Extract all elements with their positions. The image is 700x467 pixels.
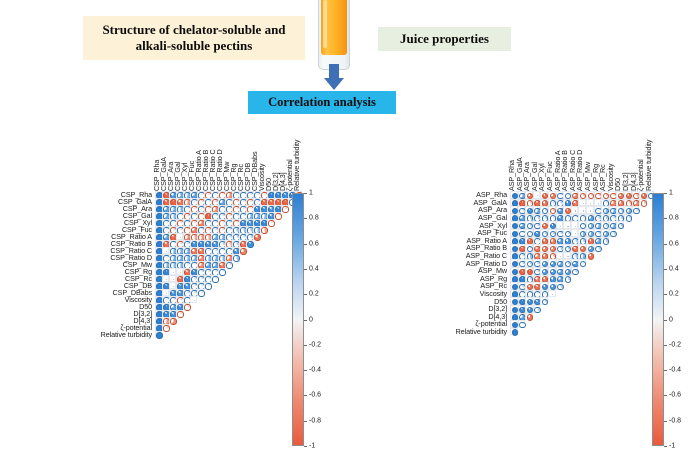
legend-tick [664,269,667,270]
correlation-cell [563,199,571,207]
correlation-cell [556,282,564,290]
correlation-cell [571,206,579,214]
correlation-cell [548,252,556,260]
correlation-cell [632,191,640,199]
correlation-cell [246,212,253,219]
correlation-cell [578,244,586,252]
legend-tick-label: 0.8 [669,215,679,222]
correlation-cell [525,282,533,290]
correlation-cell [624,199,632,207]
correlation-cell [260,205,267,212]
correlation-cell [204,233,211,240]
correlation-cell [563,206,571,214]
correlation-cell [540,244,548,252]
correlation-cell [594,191,602,199]
correlation-cell [594,214,602,222]
correlation-cell [601,214,609,222]
correlation-cell [518,199,526,207]
correlation-cell [518,320,526,328]
correlation-cell [556,191,564,199]
correlation-cell [540,297,548,305]
correlation-cell [239,240,246,247]
correlation-cell [624,191,632,199]
correlation-cell [155,282,162,289]
down-arrow-icon [312,64,356,91]
correlation-cell [510,290,518,298]
correlation-cell [211,268,218,275]
correlation-cell [197,191,204,198]
correlation-cell [571,244,579,252]
correlation-cell [586,252,594,260]
correlation-cell [253,198,260,205]
correlation-cell [518,275,526,283]
correlation-cell [586,206,594,214]
correlation-cell [183,191,190,198]
correlation-cell [155,212,162,219]
correlation-cell [616,191,624,199]
correlation-cell [267,198,274,205]
correlation-cell [176,205,183,212]
correlation-cell [533,214,541,222]
correlation-cell [183,254,190,261]
correlation-cell [225,219,232,226]
correlation-cell [548,199,556,207]
correlation-cell [548,229,556,237]
correlation-cell [190,198,197,205]
correlation-cell [518,214,526,222]
correlation-cell [169,247,176,254]
correlation-cell [253,205,260,212]
box-correlation-analysis: Correlation analysis [248,91,396,114]
correlation-cell [197,254,204,261]
correlation-cell [190,261,197,268]
correlation-cell [225,198,232,205]
correlation-cell [510,267,518,275]
correlation-cell [594,229,602,237]
correlation-cell [155,303,162,310]
correlation-cell [183,282,190,289]
correlation-cell [197,198,204,205]
correlation-cell [155,310,162,317]
correlation-cell [225,254,232,261]
correlation-cell [176,261,183,268]
correlation-cell [518,305,526,313]
legend-tick [304,370,307,371]
correlation-cell [225,226,232,233]
correlation-cell [525,267,533,275]
row-label: Relative turbidity [360,328,507,335]
correlation-cell [169,191,176,198]
correlation-cell [601,191,609,199]
correlation-cell [155,233,162,240]
correlation-cell [578,206,586,214]
correlation-cell [563,214,571,222]
correlation-cell [281,205,288,212]
correlation-cell [540,229,548,237]
flowchart-header: Structure of chelator-soluble and alkali… [0,0,700,128]
correlation-cell [190,240,197,247]
correlation-cell [548,244,556,252]
correlation-cell [162,198,169,205]
correlation-cell [162,233,169,240]
correlation-cell [239,233,246,240]
correlation-cell [518,252,526,260]
correlation-cell [632,199,640,207]
correlation-cell [162,226,169,233]
correlation-cell [616,221,624,229]
correlation-cell [183,219,190,226]
correlation-cell [525,237,533,245]
color-scale-legend: 10.80.60.40.20-0.2-0.4-0.6-0.8-1 [292,193,326,446]
legend-tick [664,421,667,422]
correlation-cell [162,261,169,268]
correlation-cell [609,221,617,229]
correlation-cell [246,198,253,205]
correlation-cell [563,259,571,267]
correlation-cell [190,289,197,296]
correlation-cell [176,212,183,219]
correlation-cell [246,233,253,240]
correlation-cell [548,290,556,298]
correlation-cell [232,191,239,198]
correlation-cell [197,240,204,247]
correlation-cell [218,254,225,261]
correlation-cell [162,219,169,226]
correlation-cell [176,303,183,310]
correlation-cell [176,296,183,303]
correlation-cell [274,191,281,198]
correlation-cell [197,275,204,282]
correlation-cell [571,259,579,267]
correlation-cell [601,206,609,214]
csp-correlation-matrix: CSP_RhaCSP_GalACSP_AraCSP_GalCSP_XylCSP_… [0,128,345,467]
correlation-cell [548,259,556,267]
correlation-cell [510,282,518,290]
correlation-cell [239,198,246,205]
correlation-cell [267,212,274,219]
correlation-cell [190,226,197,233]
legend-tick-label: 0.4 [669,265,679,272]
correlation-cell [510,229,518,237]
correlation-cell [548,267,556,275]
correlation-cell [183,303,190,310]
correlation-cell [571,252,579,260]
correlation-cell [556,221,564,229]
correlation-cell [518,237,526,245]
correlation-cell [218,261,225,268]
legend-tick-label: 0 [669,316,673,323]
correlation-cell [197,212,204,219]
correlation-cell [510,199,518,207]
correlation-cell [225,191,232,198]
correlation-cell [556,199,564,207]
correlation-cell [225,212,232,219]
column-label: Relative turbidity [292,140,301,191]
legend-tick-label: 0.8 [309,215,319,222]
correlation-cell [533,305,541,313]
correlation-cell [162,247,169,254]
correlation-cell [183,261,190,268]
correlation-cell [533,199,541,207]
correlation-cell [155,317,162,324]
correlation-cell [169,289,176,296]
correlation-cell [239,226,246,233]
correlation-cell [639,199,647,207]
correlation-cell [190,233,197,240]
correlation-cell [232,212,239,219]
correlation-cell [155,205,162,212]
correlation-cell [232,247,239,254]
correlation-cell [162,240,169,247]
correlation-cell [218,226,225,233]
asp-correlation-matrix: ASP_RhaASP_GalAASP_AraASP_GalASP_XylASP_… [350,128,700,467]
correlation-cell [183,240,190,247]
correlation-cell [155,240,162,247]
correlation-cell [211,191,218,198]
correlation-cell [211,212,218,219]
correlation-cell [548,191,556,199]
legend-tick [664,320,667,321]
correlation-cell [260,219,267,226]
correlation-cell [155,191,162,198]
legend-tick-label: 1 [669,190,673,197]
legend-tick [664,370,667,371]
correlation-cell [183,268,190,275]
correlation-cell [525,297,533,305]
correlation-cell [239,247,246,254]
legend-tick [304,244,307,245]
correlation-cell [155,254,162,261]
correlation-cell [281,191,288,198]
legend-tick [304,294,307,295]
correlation-cell [176,240,183,247]
correlation-cell [204,240,211,247]
correlation-cell [518,267,526,275]
correlation-cell [162,317,169,324]
legend-tick-label: 0.4 [309,265,319,272]
correlation-cell [162,275,169,282]
correlation-cell [533,290,541,298]
correlation-cell [246,219,253,226]
correlation-cell [155,198,162,205]
correlation-cell [639,191,647,199]
correlation-cell [586,229,594,237]
correlation-cell [274,205,281,212]
correlation-cell [211,233,218,240]
correlation-cell [253,233,260,240]
correlation-cell [540,214,548,222]
correlation-cell [218,240,225,247]
correlation-cell [510,297,518,305]
correlation-cell [162,254,169,261]
correlation-cell [540,252,548,260]
correlation-cell [176,247,183,254]
column-label: Relative turbidity [644,140,653,191]
legend-tick [664,218,667,219]
correlation-cell [578,259,586,267]
correlation-cell [260,226,267,233]
correlation-cell [169,317,176,324]
legend-tick [664,193,667,194]
correlation-cell [594,221,602,229]
legend-tick [304,269,307,270]
legend-gradient-bar [652,193,664,446]
correlation-cell [548,275,556,283]
correlation-cell [239,191,246,198]
correlation-cell [211,198,218,205]
correlation-cell [525,199,533,207]
legend-tick-label: -0.6 [669,392,681,399]
correlation-cell [601,199,609,207]
correlation-cell [162,282,169,289]
correlation-cell [267,219,274,226]
correlation-cell [218,212,225,219]
correlation-cell [253,212,260,219]
correlation-cell [578,237,586,245]
correlation-cell [525,313,533,321]
correlation-cell [533,297,541,305]
correlation-cell [232,254,239,261]
correlation-cell [190,268,197,275]
correlation-cell [548,221,556,229]
legend-tick-label: 1 [309,190,313,197]
correlation-cell [176,282,183,289]
correlation-cell [155,247,162,254]
correlation-cell [176,191,183,198]
correlation-cell [190,254,197,261]
correlation-cell [609,206,617,214]
correlation-cell [540,290,548,298]
legend-tick-label: 0.6 [309,240,319,247]
correlation-cell [586,214,594,222]
correlation-cell [260,212,267,219]
correlation-cell [246,191,253,198]
correlation-cell [176,310,183,317]
correlation-cell [525,290,533,298]
correlation-cell [556,259,564,267]
correlation-cell [556,206,564,214]
correlation-cell [540,206,548,214]
correlation-cell [563,221,571,229]
correlation-cell [525,275,533,283]
correlation-cell [169,219,176,226]
correlation-cell [204,282,211,289]
correlation-cell [155,289,162,296]
correlation-cell [169,268,176,275]
legend-tick-label: 0 [309,316,313,323]
correlation-cell [162,289,169,296]
box-juice-properties: Juice properties [378,27,511,51]
correlation-cell [169,282,176,289]
correlation-cell [609,199,617,207]
correlation-cell [155,261,162,268]
color-scale-legend: 10.80.60.40.20-0.2-0.4-0.6-0.8-1 [652,193,686,446]
correlation-cell [204,205,211,212]
correlation-cell [190,212,197,219]
correlation-cell [540,267,548,275]
correlation-cell [556,244,564,252]
correlation-cell [563,244,571,252]
legend-tick [664,244,667,245]
correlation-cell [525,244,533,252]
correlation-cell [548,214,556,222]
legend-tick [304,320,307,321]
correlation-cell [190,205,197,212]
correlation-cell [525,221,533,229]
correlation-cell [190,296,197,303]
correlation-cell [578,252,586,260]
legend-tick [304,345,307,346]
correlation-cell [510,275,518,283]
correlation-cell [609,229,617,237]
correlation-cell [211,275,218,282]
correlation-cell [225,247,232,254]
correlation-cell [176,226,183,233]
correlation-cell [204,268,211,275]
correlation-cell [246,205,253,212]
correlation-cell [563,252,571,260]
correlation-grid [155,191,302,338]
correlation-cell [204,198,211,205]
correlation-cell [540,237,548,245]
correlation-cell [571,229,579,237]
correlation-cell [225,205,232,212]
legend-tick-label: -1 [669,443,675,450]
correlation-cell [556,237,564,245]
correlation-cell [246,226,253,233]
correlation-cell [586,199,594,207]
correlation-cell [518,244,526,252]
legend-tick [304,446,307,447]
correlation-cell [176,198,183,205]
correlation-cell [162,205,169,212]
correlation-cell [225,233,232,240]
juice-glass-icon [318,0,350,70]
correlation-cell [510,252,518,260]
legend-tick-label: -0.6 [309,392,321,399]
correlation-cell [518,297,526,305]
correlation-cell [518,229,526,237]
correlation-cell [218,268,225,275]
correlation-cell [578,221,586,229]
legend-tick-label: -1 [309,443,315,450]
correlation-cell [197,247,204,254]
correlation-cell [510,305,518,313]
legend-gradient-bar [292,193,304,446]
correlation-cell [540,199,548,207]
correlation-cell [586,191,594,199]
legend-tick [664,446,667,447]
correlation-cell [162,324,169,331]
correlation-grid [510,191,654,335]
correlation-cell [176,219,183,226]
correlation-cell [518,282,526,290]
correlation-cell [267,191,274,198]
correlation-cell [169,212,176,219]
correlation-cell [239,219,246,226]
correlation-cell [190,191,197,198]
correlation-cell [162,191,169,198]
correlation-cell [176,275,183,282]
correlation-cell [510,221,518,229]
correlation-cell [533,275,541,283]
correlation-cell [169,261,176,268]
correlation-cell [183,212,190,219]
correlation-cell [616,199,624,207]
correlation-cell [510,320,518,328]
correlation-cell [525,191,533,199]
legend-tick-label: -0.2 [669,341,681,348]
